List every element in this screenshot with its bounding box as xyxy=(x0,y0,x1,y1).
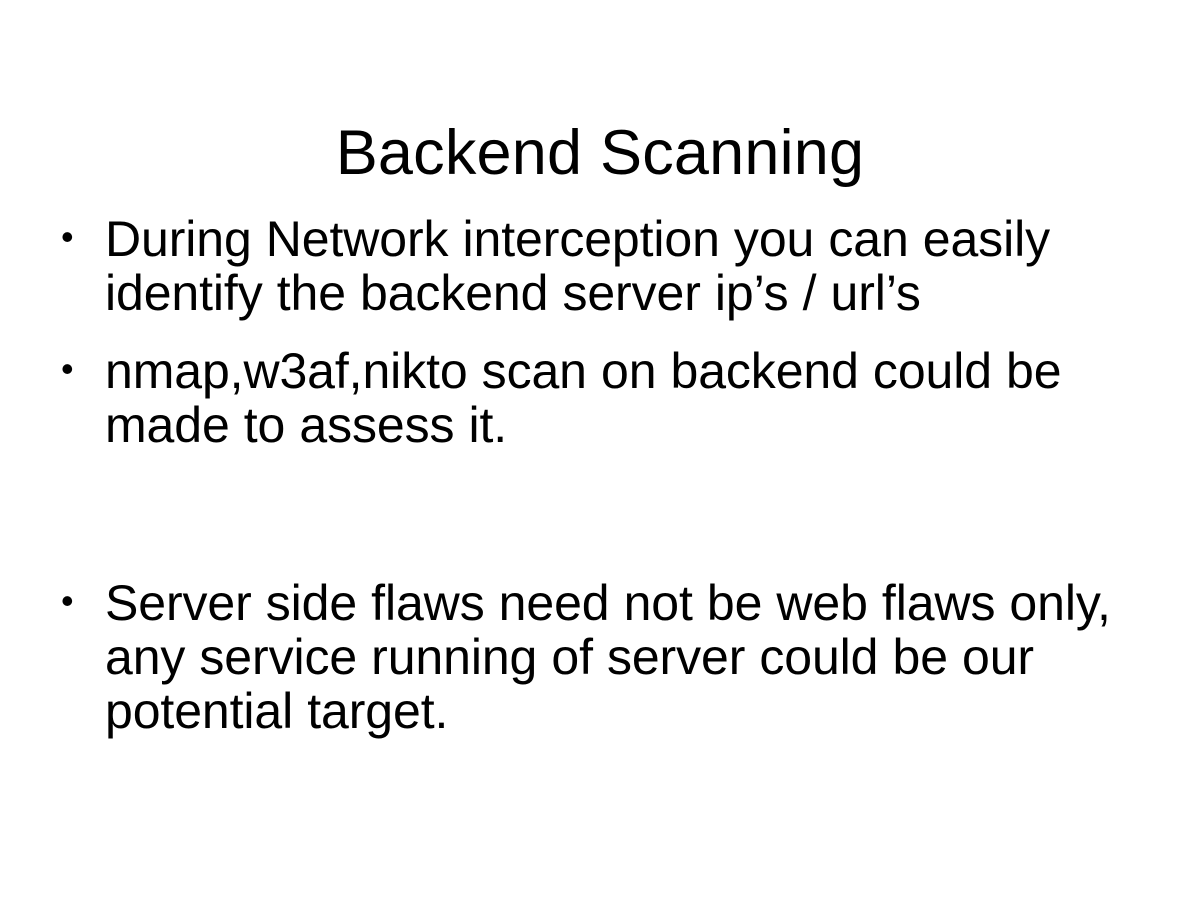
bullet-point-icon: • xyxy=(61,212,87,266)
list-item: • Server side flaws need not be web flaw… xyxy=(55,576,1125,738)
bullet-text: Server side flaws need not be web flaws … xyxy=(105,576,1125,738)
bullet-point-icon: • xyxy=(61,344,87,398)
presentation-slide: Backend Scanning • During Network interc… xyxy=(0,0,1200,900)
blank-line-spacer xyxy=(55,476,1125,576)
slide-bullet-list: • During Network interception you can ea… xyxy=(55,212,1125,738)
list-item: • nmap,w3af,nikto scan on backend could … xyxy=(55,344,1125,452)
bullet-text: During Network interception you can easi… xyxy=(105,212,1125,320)
bullet-text: nmap,w3af,nikto scan on backend could be… xyxy=(105,344,1125,452)
list-item: • During Network interception you can ea… xyxy=(55,212,1125,320)
bullet-point-icon: • xyxy=(61,576,87,630)
slide-title: Backend Scanning xyxy=(0,120,1200,186)
